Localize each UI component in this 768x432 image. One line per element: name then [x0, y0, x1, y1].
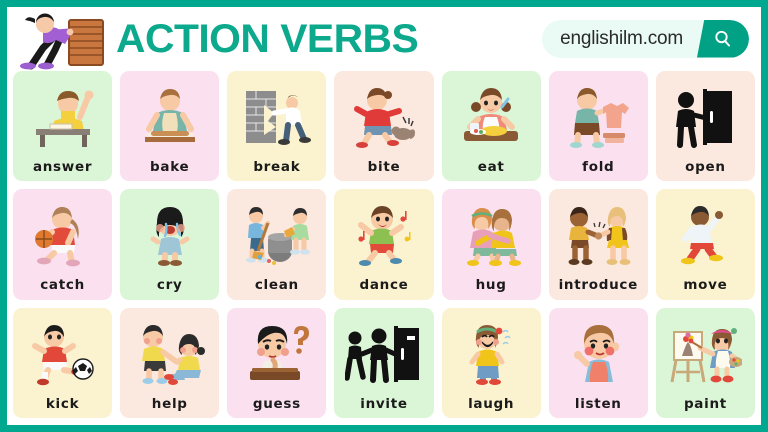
verb-card-hug[interactable]: hug [442, 189, 541, 299]
girl-crying-icon [120, 189, 219, 279]
girl-bitten-by-dog-icon [334, 71, 433, 161]
brand-name: englishilm.com [542, 28, 697, 50]
girl-eating-meal-icon [442, 71, 541, 161]
page-title: ACTION VERBS [116, 19, 418, 59]
verb-label: help [152, 398, 188, 412]
verb-label: guess [253, 398, 301, 412]
man-breaking-brick-wall-icon [227, 71, 326, 161]
verb-card-laugh[interactable]: laugh [442, 308, 541, 418]
verb-label: answer [33, 161, 92, 175]
figure-inviting-at-door-icon [334, 308, 433, 398]
verb-card-open[interactable]: open [656, 71, 755, 181]
boy-dancing-with-notes-icon [334, 189, 433, 279]
girl-painting-at-easel-icon [656, 308, 755, 398]
search-icon[interactable] [697, 20, 749, 58]
verb-label: eat [478, 161, 505, 175]
verb-label: dance [359, 279, 408, 293]
brand-search-pill[interactable]: englishilm.com [542, 20, 749, 58]
boy-moving-dancing-icon [656, 189, 755, 279]
verb-card-invite[interactable]: invite [334, 308, 433, 418]
figure-opening-door-icon [656, 71, 755, 161]
verb-card-help[interactable]: help [120, 308, 219, 418]
verb-label: bite [368, 161, 401, 175]
verb-card-paint[interactable]: paint [656, 308, 755, 418]
person-rolling-dough-icon [120, 71, 219, 161]
boy-listening-hand-to-ear-icon [549, 308, 648, 398]
boy-folding-shirt-icon [549, 71, 648, 161]
verb-label: kick [46, 398, 79, 412]
verb-card-catch[interactable]: catch [13, 189, 112, 299]
verb-label: introduce [559, 279, 638, 293]
verb-label: cry [157, 279, 183, 293]
verb-card-bite[interactable]: bite [334, 71, 433, 181]
verb-label: laugh [468, 398, 514, 412]
verb-label: catch [40, 279, 85, 293]
verb-label: hug [476, 279, 507, 293]
verb-card-cry[interactable]: cry [120, 189, 219, 299]
verb-card-break[interactable]: break [227, 71, 326, 181]
verb-card-grid: answer bake [7, 70, 761, 425]
verb-card-listen[interactable]: listen [549, 308, 648, 418]
two-children-shaking-hands-icon [549, 189, 648, 279]
verb-card-kick[interactable]: kick [13, 308, 112, 418]
verb-label: listen [575, 398, 622, 412]
verb-label: invite [360, 398, 407, 412]
girl-laughing-icon [442, 308, 541, 398]
verb-card-fold[interactable]: fold [549, 71, 648, 181]
boy-kicking-soccer-ball-icon [13, 308, 112, 398]
verb-card-introduce[interactable]: introduce [549, 189, 648, 299]
child-raising-hand-at-desk-icon [13, 71, 112, 161]
verb-card-move[interactable]: move [656, 189, 755, 299]
verb-card-clean[interactable]: clean [227, 189, 326, 299]
poster-header: ACTION VERBS englishilm.com [7, 7, 761, 70]
two-girls-hugging-icon [442, 189, 541, 279]
boy-helping-fallen-girl-icon [120, 308, 219, 398]
verb-label: break [253, 161, 300, 175]
verb-label: move [683, 279, 727, 293]
person-pushing-box-illustration [13, 8, 117, 70]
verb-label: paint [684, 398, 727, 412]
girl-catching-ball-icon [13, 189, 112, 279]
verb-card-dance[interactable]: dance [334, 189, 433, 299]
verb-label: fold [582, 161, 614, 175]
verb-card-answer[interactable]: answer [13, 71, 112, 181]
children-cleaning-trash-icon [227, 189, 326, 279]
verb-label: open [685, 161, 726, 175]
verb-label: bake [150, 161, 189, 175]
verb-card-eat[interactable]: eat [442, 71, 541, 181]
verb-label: clean [255, 279, 299, 293]
verb-card-bake[interactable]: bake [120, 71, 219, 181]
verb-card-guess[interactable]: guess [227, 308, 326, 418]
poster-root: ACTION VERBS englishilm.com [0, 0, 768, 432]
boy-thinking-question-mark-icon [227, 308, 326, 398]
